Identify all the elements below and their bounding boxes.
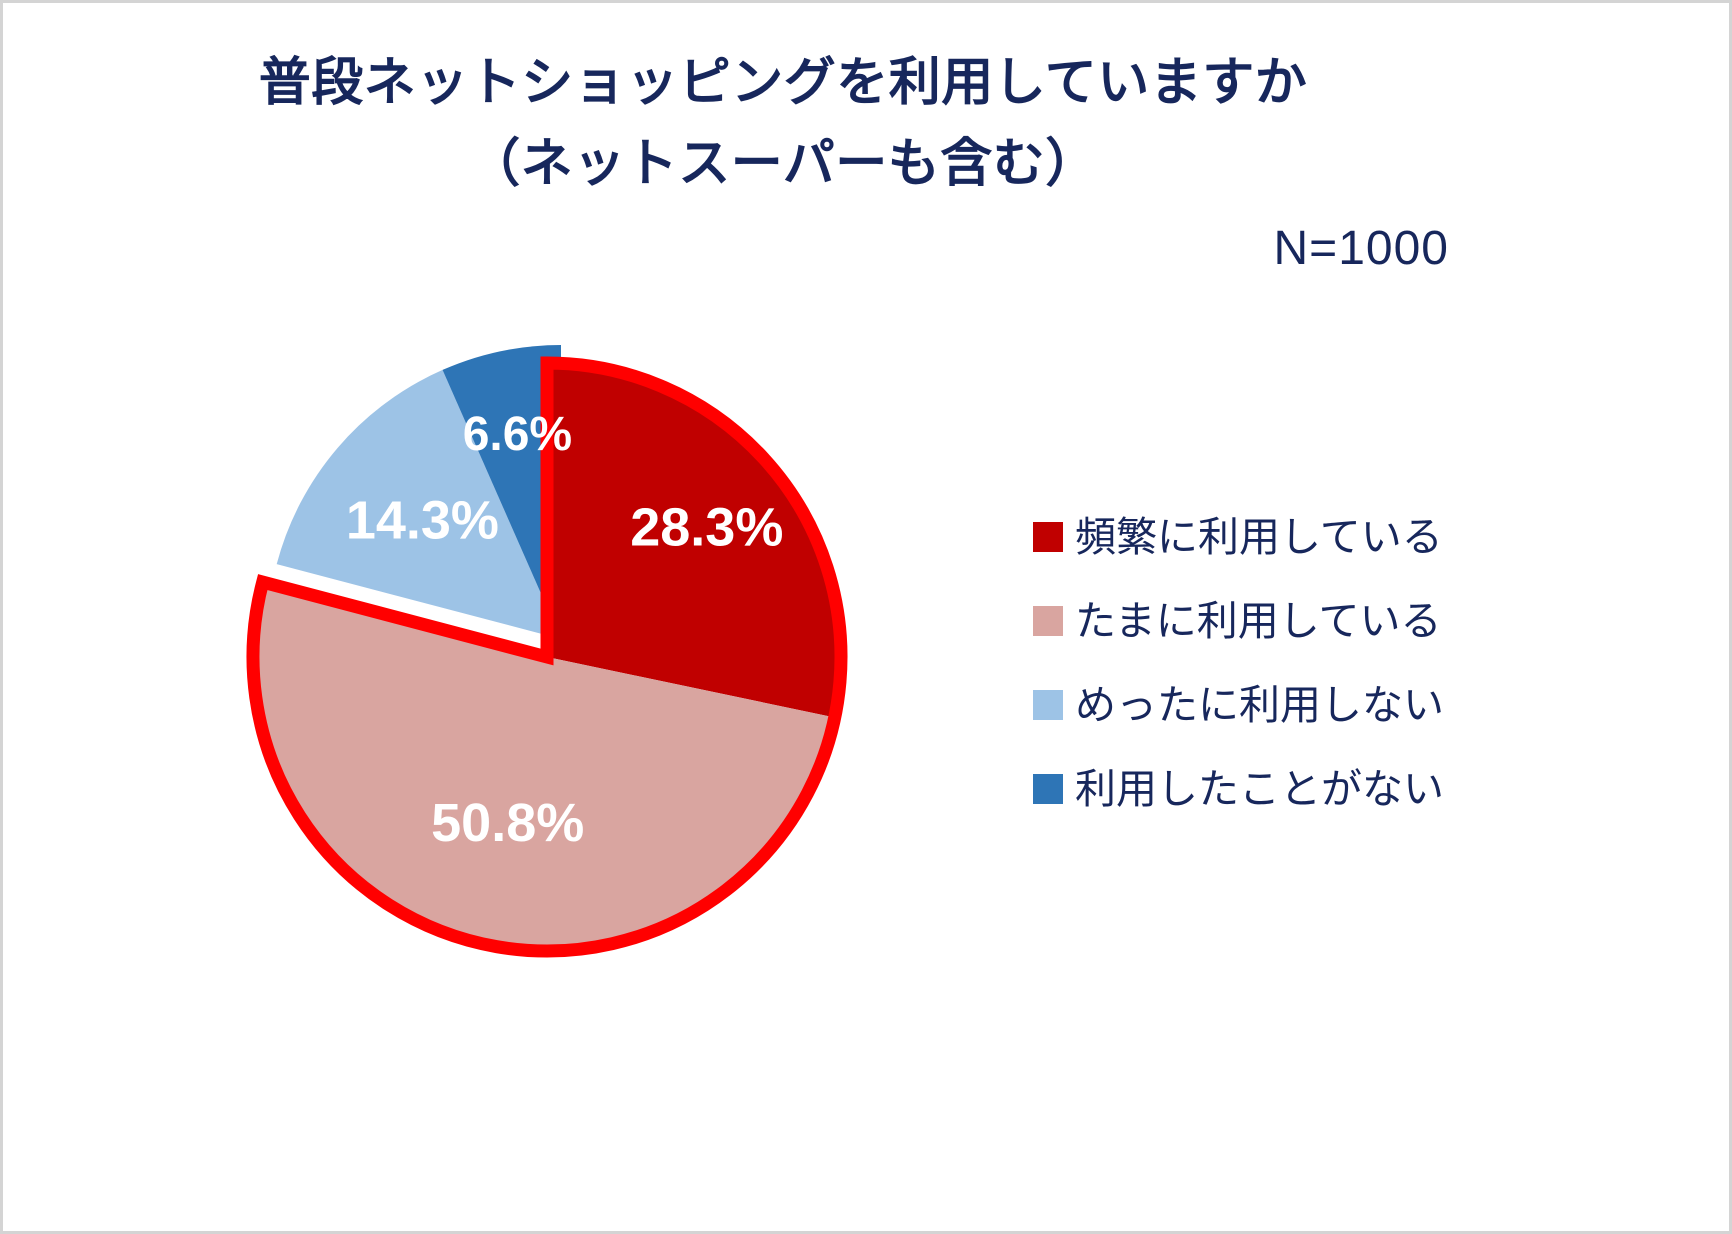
- legend-swatch-icon: [1033, 774, 1063, 804]
- legend-item-label: めったに利用しない: [1075, 685, 1444, 726]
- legend-item-3[interactable]: 利用したことがない: [1033, 747, 1503, 831]
- pie-label-1: 28.3%: [630, 497, 783, 557]
- legend-item-label: 頻繁に利用している: [1075, 517, 1443, 558]
- legend-swatch-icon: [1033, 606, 1063, 636]
- legend-item-2[interactable]: めったに利用しない: [1033, 663, 1503, 747]
- pie-chart: 28.3% 50.8% 14.3% 6.6%: [203, 299, 963, 1029]
- legend-item-1[interactable]: たまに利用している: [1033, 579, 1503, 663]
- pie-chart-svg: 28.3% 50.8% 14.3% 6.6%: [203, 299, 963, 1029]
- pie-label-3: 14.3%: [346, 491, 499, 551]
- pie-label-2: 50.8%: [431, 793, 584, 853]
- chart-canvas: 普段ネットショッピングを利用していますか （ネットスーパーも含む） N=1000…: [0, 0, 1732, 1234]
- legend-item-label: 利用したことがない: [1075, 769, 1444, 810]
- pie-label-4: 6.6%: [463, 408, 572, 461]
- legend-swatch-icon: [1033, 690, 1063, 720]
- chart-title: 普段ネットショッピングを利用していますか （ネットスーパーも含む）: [3, 43, 1563, 204]
- sample-size-label: N=1000: [1274, 221, 1449, 276]
- legend-swatch-icon: [1033, 522, 1063, 552]
- chart-title-line-2: （ネットスーパーも含む）: [3, 124, 1563, 205]
- chart-legend: 頻繁に利用している たまに利用している めったに利用しない 利用したことがない: [1033, 495, 1503, 831]
- legend-item-0[interactable]: 頻繁に利用している: [1033, 495, 1503, 579]
- chart-title-line-1: 普段ネットショッピングを利用していますか: [3, 43, 1563, 124]
- legend-item-label: たまに利用している: [1075, 601, 1442, 642]
